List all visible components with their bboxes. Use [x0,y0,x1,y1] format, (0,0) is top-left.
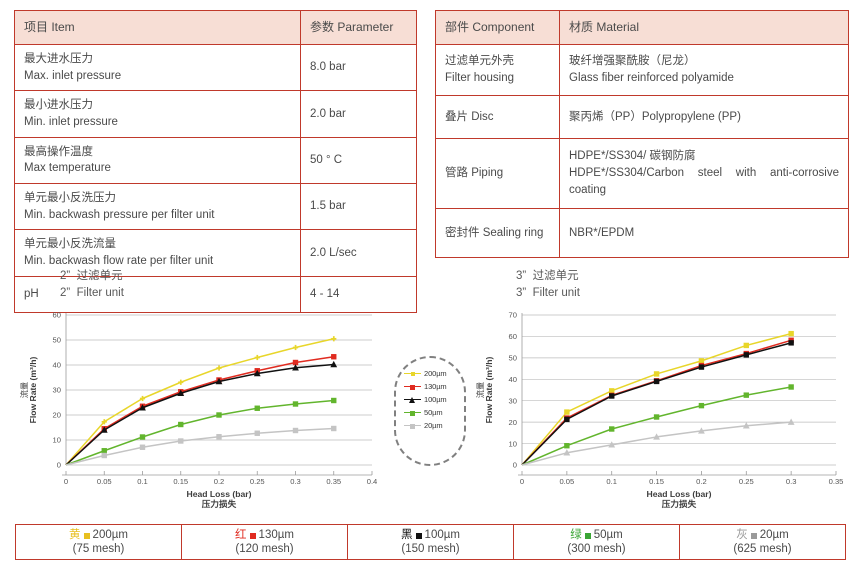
x-axis-tick-label: 0.3 [290,477,301,486]
chart-2inch-title-cn: 2” 过滤单元 [60,268,384,285]
series-marker-100µm [699,364,704,369]
series-marker-130µm [331,354,336,359]
mesh-micron-label: 50µm [594,529,623,542]
series-marker-200µm [654,371,659,376]
material-component-cn: 管路 Piping [445,165,550,182]
material-table: 部件 Component 材质 Material 过滤单元外壳 Filter h… [435,10,849,258]
y-axis-tick-label: 70 [509,310,517,319]
material-value-cn: 聚丙烯（PP）Polypropylene (PP) [569,109,839,126]
chart-2inch-plot: 010203040506000.050.10.150.20.250.30.350… [14,307,384,517]
table-row: 单元最小反洗压力 Min. backwash pressure per filt… [15,184,417,230]
series-legend-label: 20µm [424,421,443,430]
table-row: 最大进水压力 Max. inlet pressure 8.0 bar [15,45,417,91]
chart-3inch: 3” 过滤单元 3” Filter unit 01020304050607000… [470,268,850,516]
series-marker-50µm [102,448,107,453]
table-row: 密封件 Sealing ring NBR*/EPDM [436,208,849,257]
series-marker-100µm [564,416,569,421]
x-axis-tick-label: 0 [64,477,68,486]
series-marker-50µm [609,426,614,431]
series-marker-200µm [142,395,144,400]
series-legend-item: 20µm [404,421,456,430]
mesh-color-swatch-icon [751,533,757,539]
mesh-color-name: 红 [235,529,247,542]
series-marker-100µm [744,352,749,357]
mesh-micron-label: 200µm [93,529,128,542]
chart-2inch-title: 2” 过滤单元 2” Filter unit [60,268,384,303]
chart-3inch-title-en: 3” Filter unit [516,285,850,302]
chart-2inch-svg: 010203040506000.050.10.150.20.250.30.350… [14,307,384,517]
table-row: 叠片 Disc 聚丙烯（PP）Polypropylene (PP) [436,96,849,139]
y-axis-tick-label: 40 [509,374,517,383]
x-axis-tick-label: 0.35 [326,477,341,486]
material-value-cell: 玻纤增强聚酰胺（尼龙） Glass fiber reinforced polya… [560,45,849,96]
series-legend-item: 50µm [404,408,456,417]
material-component-cn: 过滤单元外壳 [445,53,550,70]
spec-value-cell: 2.0 bar [301,91,417,137]
spec-header-parameter: 参数 Parameter [301,11,417,45]
mesh-color-swatch-icon [84,533,90,539]
series-line-100µm [522,342,791,464]
series-marker-200µm [218,365,220,370]
mesh-micron-label: 130µm [259,529,294,542]
material-value-en: HDPE*/SS304/Carbon steel with anti-corro… [569,165,839,198]
material-component-cell: 叠片 Disc [436,96,560,139]
spec-item-cell: 最高操作温度 Max temperature [15,137,301,183]
series-legend-swatch-square-icon [404,421,421,430]
mesh-legend-cell: 黄200µm(75 mesh) [16,525,182,559]
series-marker-50µm [654,414,659,419]
chart-2inch-title-en: 2” Filter unit [60,285,384,302]
series-marker-200µm [295,344,297,349]
table-row: 最小进水压力 Min. inlet pressure 2.0 bar [15,91,417,137]
y-axis-tick-label: 50 [53,335,61,344]
table-header-row: 部件 Component 材质 Material [436,11,849,45]
series-marker-20µm [140,444,145,449]
series-marker-20µm [178,438,183,443]
y-axis-tick-label: 10 [509,439,517,448]
series-marker-50µm [331,397,336,402]
y-axis-tick-label: 0 [57,460,61,469]
y-axis-tick-label: 30 [509,396,517,405]
svg-text:Flow Rate (m³/h): Flow Rate (m³/h) [484,356,494,423]
material-component-cn: 叠片 Disc [445,109,550,126]
material-value-cn: 玻纤增强聚酰胺（尼龙） [569,53,839,70]
material-value-cell: 聚丙烯（PP）Polypropylene (PP) [560,96,849,139]
tables-row: 项目 Item 参数 Parameter 最大进水压力 Max. inlet p… [14,10,847,258]
spec-item-cn: 单元最小反洗压力 [24,190,291,207]
mesh-color-name: 绿 [570,529,582,542]
series-marker-20µm [331,425,336,430]
series-marker-50µm [788,384,793,389]
x-axis-tick-label: 0.25 [739,477,754,486]
series-marker-200µm [103,419,105,424]
series-marker-100µm [788,340,793,345]
mesh-legend-bar: 黄200µm(75 mesh)红130µm(120 mesh)黑100µm(15… [15,524,846,560]
x-axis-tick-label: 0.15 [649,477,664,486]
y-axis-tick-label: 60 [53,310,61,319]
series-marker-200µm [333,336,335,341]
spec-value-cell: 50 ° C [301,137,417,183]
series-legend-label: 130µm [424,382,447,391]
material-value-en: Glass fiber reinforced polyamide [569,70,839,87]
series-legend-label: 50µm [424,408,443,417]
x-axis-title-cn: 压力损失 [202,498,237,509]
x-axis-title-en: Head Loss (bar) [647,489,712,499]
mesh-color-swatch-icon [416,533,422,539]
series-marker-50µm [293,401,298,406]
spec-item-en: Max. inlet pressure [24,68,291,85]
series-legend: 200µm130µm100µm50µm20µm [394,356,466,466]
series-marker-100µm [609,393,614,398]
chart-3inch-title-cn: 3” 过滤单元 [516,268,850,285]
spec-item-cn: 最小进水压力 [24,97,291,114]
mesh-color-swatch-icon [250,533,256,539]
table-row: 最高操作温度 Max temperature 50 ° C [15,137,417,183]
series-marker-50µm [255,405,260,410]
mesh-micron-label: 20µm [760,529,789,542]
x-axis-tick-label: 0.15 [173,477,188,486]
series-legend-item: 100µm [404,395,456,404]
mesh-micron-label: 100µm [425,529,460,542]
material-value-cn: HDPE*/SS304/ 碳钢防腐 [569,148,839,165]
y-axis-tick-label: 20 [53,410,61,419]
material-value-cell: HDPE*/SS304/ 碳钢防腐 HDPE*/SS304/Carbon ste… [560,138,849,208]
series-marker-50µm [216,412,221,417]
mesh-legend-cell: 红130µm(120 mesh) [182,525,348,559]
series-marker-200µm [180,379,182,384]
x-axis-tick-label: 0.2 [696,477,707,486]
series-marker-100µm [654,378,659,383]
x-axis-tick-label: 0.3 [786,477,797,486]
x-axis-tick-label: 0.05 [559,477,574,486]
mesh-color-name: 灰 [736,529,748,542]
spec-item-cn: 单元最小反洗流量 [24,236,291,253]
material-value-cn: NBR*/EPDM [569,225,839,242]
spec-item-en: Min. inlet pressure [24,114,291,131]
mesh-color-name: 黄 [69,529,81,542]
spec-item-cn: 最大进水压力 [24,51,291,68]
spec-header-item: 项目 Item [15,11,301,45]
spec-item-cell: 单元最小反洗压力 Min. backwash pressure per filt… [15,184,301,230]
series-legend-swatch-plus-icon [404,369,421,378]
series-marker-50µm [564,443,569,448]
y-axis-tick-label: 50 [509,353,517,362]
series-marker-200µm [564,409,569,414]
mesh-count-label: (300 mesh) [567,543,625,556]
x-axis-tick-label: 0.2 [214,477,225,486]
x-axis-tick-label: 0 [520,477,524,486]
mesh-color-name: 黑 [401,529,413,542]
spec-item-cell: 最大进水压力 Max. inlet pressure [15,45,301,91]
mesh-legend-cell: 黑100µm(150 mesh) [348,525,514,559]
material-header-material: 材质 Material [560,11,849,45]
x-axis-title-cn: 压力损失 [662,498,697,509]
spec-value-cell: 8.0 bar [301,45,417,91]
spec-item-en: Min. backwash pressure per filter unit [24,207,291,224]
chart-3inch-svg: 01020304050607000.050.10.150.20.250.30.3… [470,307,850,517]
series-legend-swatch-square-icon [404,408,421,417]
x-axis-title-en: Head Loss (bar) [187,489,252,499]
mesh-count-label: (120 mesh) [235,543,293,556]
y-axis-tick-label: 20 [509,417,517,426]
x-axis-tick-label: 0.25 [250,477,265,486]
spec-item-en: Max temperature [24,160,291,177]
series-marker-200µm [699,358,704,363]
x-axis-tick-label: 0.1 [606,477,617,486]
table-header-row: 项目 Item 参数 Parameter [15,11,417,45]
spec-value-cell: 1.5 bar [301,184,417,230]
chart-3inch-plot: 01020304050607000.050.10.150.20.250.30.3… [470,307,850,517]
series-line-130µm [522,340,791,465]
table-row: 过滤单元外壳 Filter housing 玻纤增强聚酰胺（尼龙） Glass … [436,45,849,96]
series-legend-swatch-square-icon [404,382,421,391]
x-axis-tick-label: 0.35 [829,477,844,486]
series-legend-item: 200µm [404,369,456,378]
material-component-cell: 密封件 Sealing ring [436,208,560,257]
table-row: 管路 Piping HDPE*/SS304/ 碳钢防腐 HDPE*/SS304/… [436,138,849,208]
y-axis-title: 流量Flow Rate (m³/h) [19,356,38,423]
series-marker-50µm [699,402,704,407]
material-component-cell: 管路 Piping [436,138,560,208]
material-component-cn: 密封件 Sealing ring [445,225,550,242]
material-header-component: 部件 Component [436,11,560,45]
series-marker-50µm [744,392,749,397]
x-axis-tick-label: 0.1 [137,477,148,486]
series-marker-20µm [293,427,298,432]
y-axis-tick-label: 60 [509,332,517,341]
spec-item-cn: 最高操作温度 [24,144,291,161]
spec-item-cell: 最小进水压力 Min. inlet pressure [15,91,301,137]
chart-3inch-title: 3” 过滤单元 3” Filter unit [516,268,850,303]
mesh-count-label: (150 mesh) [401,543,459,556]
material-component-cell: 过滤单元外壳 Filter housing [436,45,560,96]
mesh-count-label: (625 mesh) [733,543,791,556]
y-axis-tick-label: 10 [53,435,61,444]
x-axis-tick-label: 0.05 [97,477,112,486]
svg-text:Flow Rate (m³/h): Flow Rate (m³/h) [28,356,38,423]
series-marker-50µm [178,421,183,426]
series-legend-label: 100µm [424,395,447,404]
material-component-en: Filter housing [445,70,550,87]
series-marker-20µm [102,452,107,457]
y-axis-title: 流量Flow Rate (m³/h) [475,356,494,423]
series-marker-200µm [256,354,258,359]
series-line-20µm [66,428,334,465]
y-axis-tick-label: 30 [53,385,61,394]
chart-2inch: 2” 过滤单元 2” Filter unit 010203040506000.0… [14,268,384,516]
y-axis-tick-label: 0 [513,460,517,469]
series-legend-item: 130µm [404,382,456,391]
material-value-cell: NBR*/EPDM [560,208,849,257]
mesh-legend-cell: 灰20µm(625 mesh) [680,525,845,559]
x-axis-tick-label: 0.4 [367,477,378,486]
mesh-color-swatch-icon [585,533,591,539]
series-marker-20µm [216,434,221,439]
series-marker-200µm [788,330,793,335]
series-marker-20µm [255,430,260,435]
mesh-legend-cell: 绿50µm(300 mesh) [514,525,680,559]
series-legend-swatch-triangle-icon [404,395,421,404]
series-marker-200µm [744,342,749,347]
series-legend-label: 200µm [424,369,447,378]
mesh-count-label: (75 mesh) [73,543,125,556]
series-marker-50µm [140,434,145,439]
series-legend-list: 200µm130µm100µm50µm20µm [396,369,464,430]
y-axis-tick-label: 40 [53,360,61,369]
